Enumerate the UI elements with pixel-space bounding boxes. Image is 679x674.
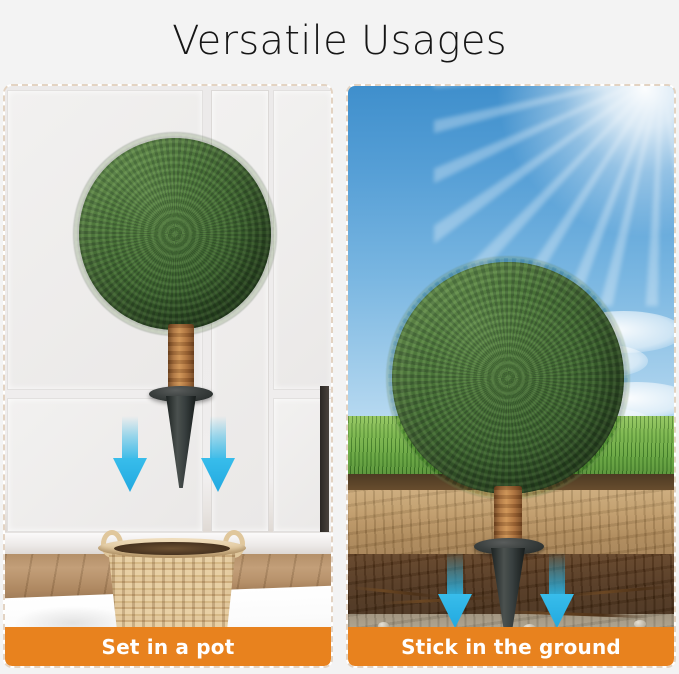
topiary-canopy-indoor xyxy=(79,138,271,330)
down-arrow-icon xyxy=(113,416,147,492)
arrow-head xyxy=(438,594,472,628)
arrow-stem xyxy=(447,552,463,598)
sun-glare xyxy=(484,86,674,236)
wall-moulding-panel xyxy=(273,90,331,390)
outdoor-scene-photo xyxy=(348,86,674,631)
down-arrow-icon xyxy=(201,416,235,492)
caption-set-in-a-pot: Set in a pot xyxy=(5,627,331,666)
door-gap xyxy=(320,386,329,536)
basket-opening xyxy=(114,542,230,555)
arrow-head xyxy=(201,458,235,492)
indoor-scene-photo xyxy=(5,86,331,631)
panel-row: Set in a pot xyxy=(3,84,676,668)
arrow-head xyxy=(540,594,574,628)
arrow-stem xyxy=(549,552,565,598)
topiary-canopy-outdoor xyxy=(392,262,624,494)
panel-stick-in-the-ground[interactable]: Stick in the ground xyxy=(346,84,676,668)
down-arrow-icon xyxy=(540,552,574,628)
down-arrow-icon xyxy=(438,552,472,628)
arrow-head xyxy=(113,458,147,492)
arrow-stem xyxy=(122,416,138,462)
arrow-stem xyxy=(210,416,226,462)
page-title: Versatile Usages xyxy=(0,16,679,66)
caption-stick-in-the-ground: Stick in the ground xyxy=(348,627,674,666)
product-feature-card: Versatile Usages xyxy=(0,0,679,674)
panel-set-in-a-pot[interactable]: Set in a pot xyxy=(3,84,333,668)
